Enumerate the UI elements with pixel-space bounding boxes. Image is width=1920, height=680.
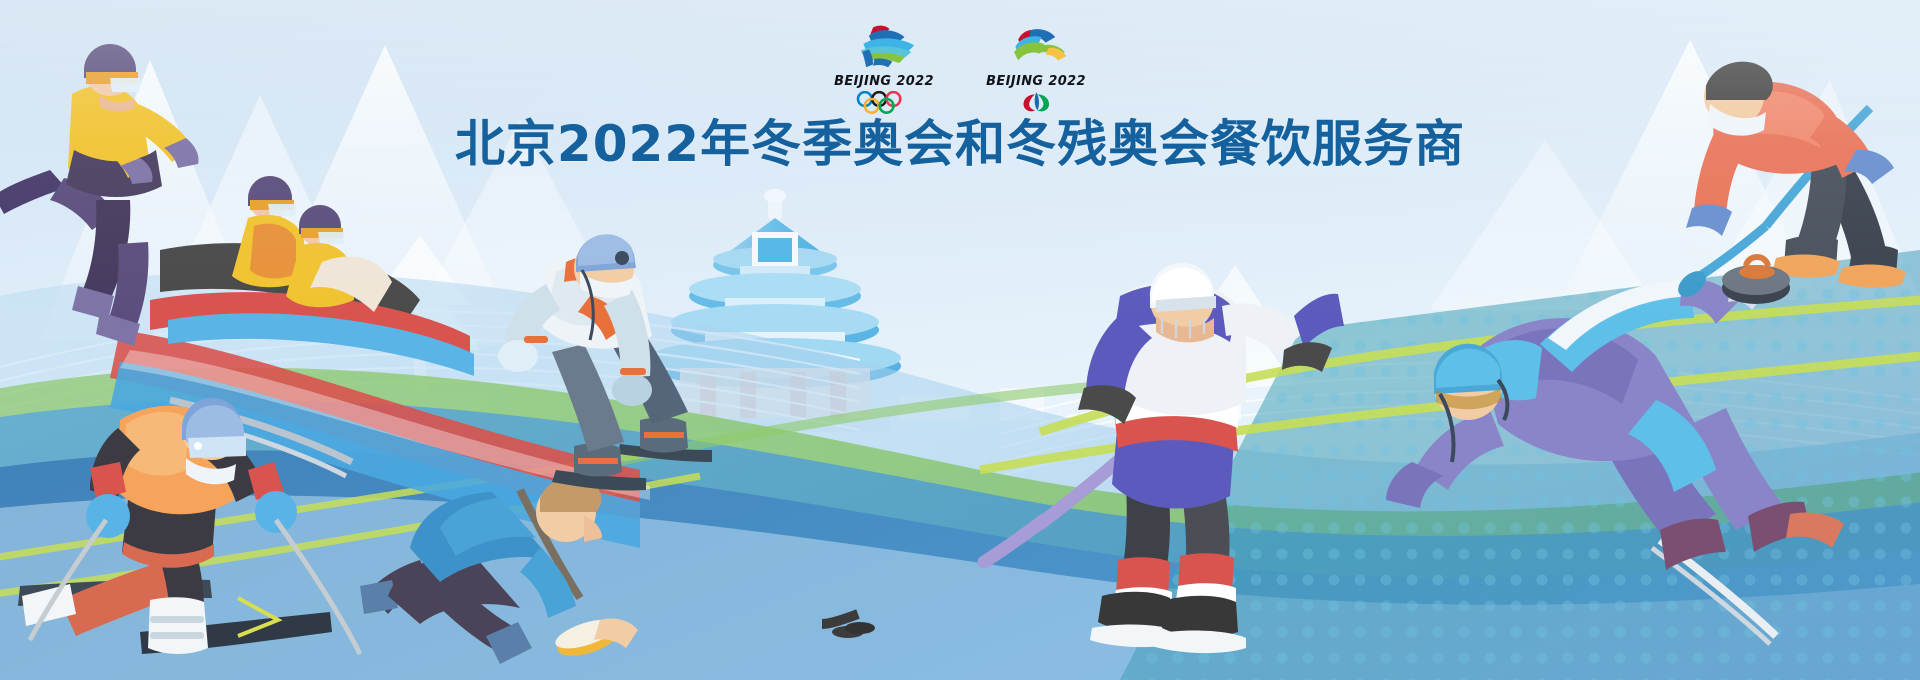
beijing-2022-olympic-emblem-icon: [842, 22, 926, 70]
beijing-2022-paralympic-emblem-icon: [994, 22, 1078, 70]
olympic-rings-icon: [850, 91, 919, 115]
paralympic-wordmark: BEIJING 2022: [986, 73, 1086, 89]
emblem-group: BEIJING 2022 BEIJING 2022: [0, 22, 1920, 115]
paralympic-emblem-block: BEIJING 2022: [978, 22, 1094, 115]
paralympic-agitos-icon: [1002, 91, 1071, 115]
olympic-emblem-block: BEIJING 2022: [826, 22, 942, 115]
page-title: 北京2022年冬季奥会和冬残奥会餐饮服务商: [0, 117, 1920, 172]
beijing-2022-banner: BEIJING 2022 BEIJING 2022: [0, 0, 1920, 680]
olympic-wordmark: BEIJING 2022: [834, 73, 934, 89]
